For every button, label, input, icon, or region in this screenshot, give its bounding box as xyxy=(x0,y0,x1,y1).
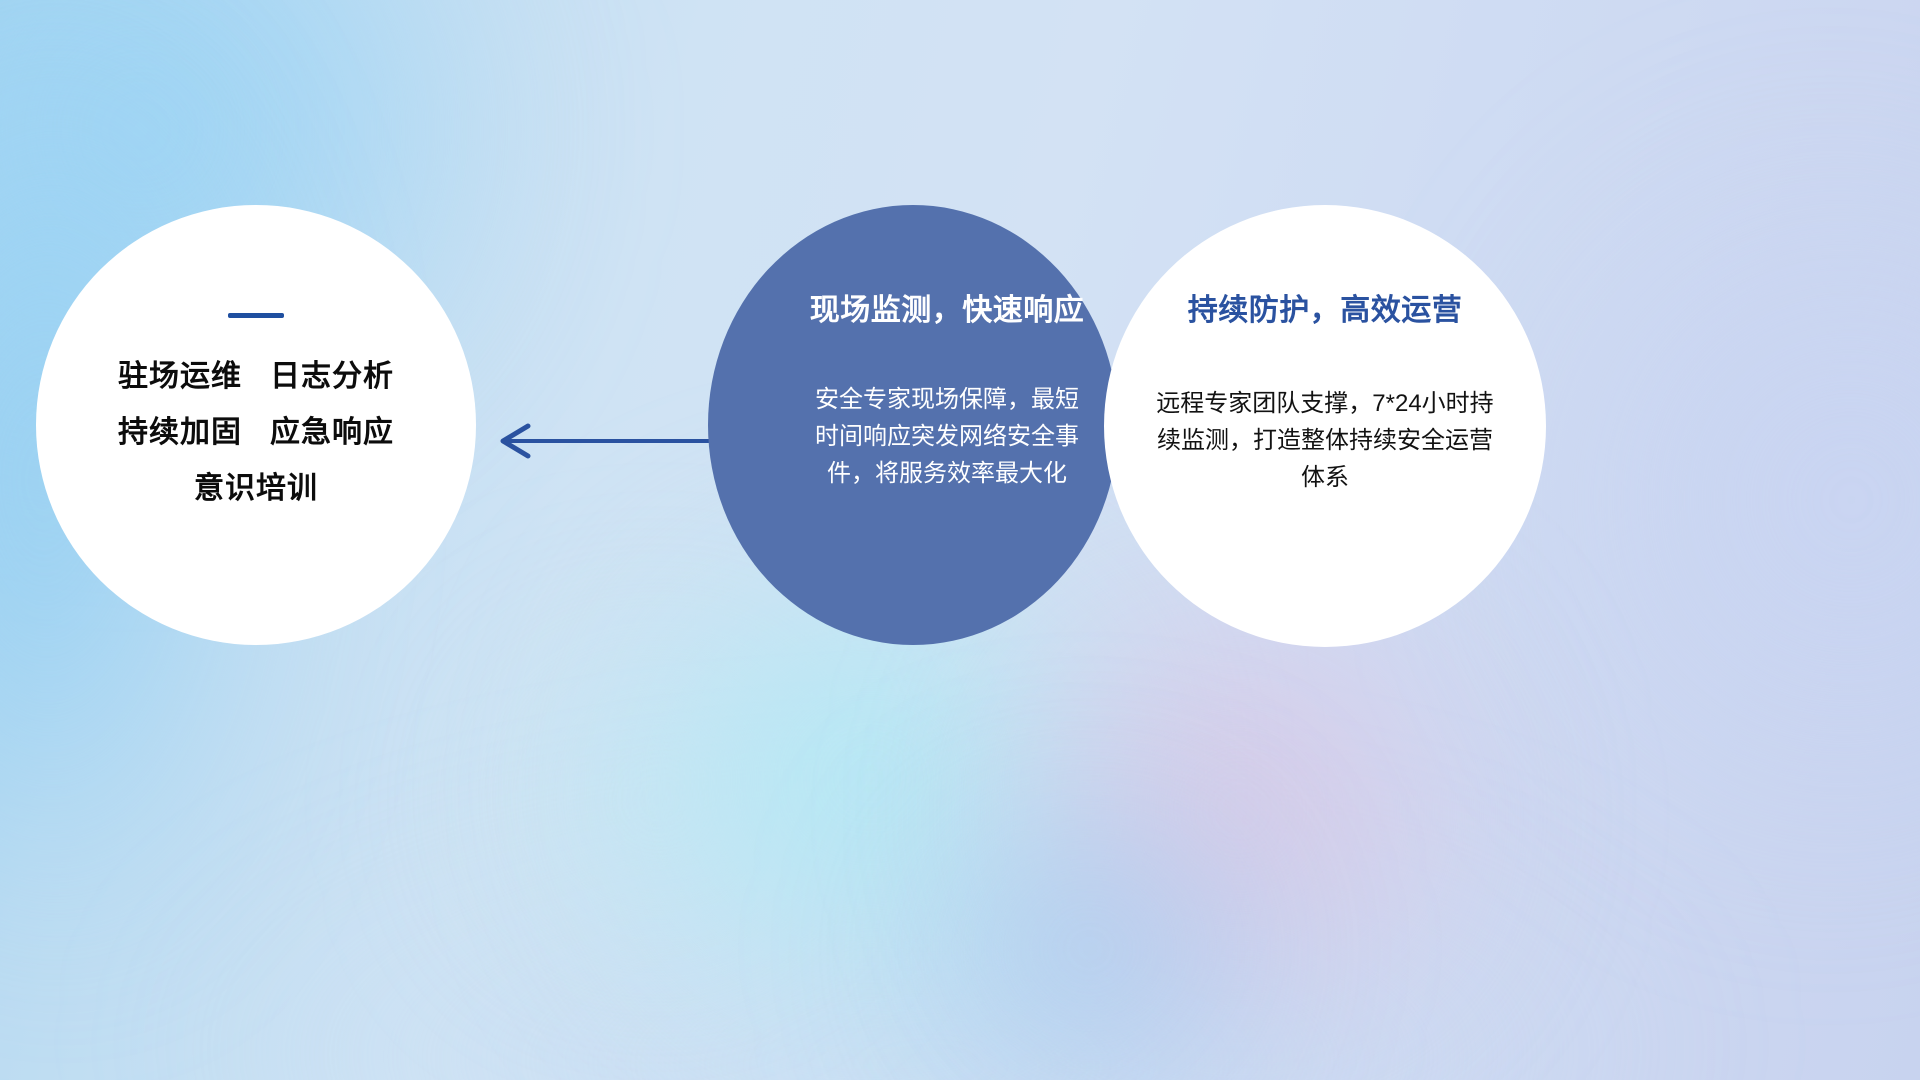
arrow-connector xyxy=(490,418,710,464)
slide-canvas: 驻场运维 日志分析 持续加固 应急响应 意识培训 现场监测，快速响应 安全专家现… xyxy=(0,0,1920,1080)
divider-dash xyxy=(228,313,284,318)
capability-list: 驻场运维 日志分析 持续加固 应急响应 意识培训 xyxy=(118,362,394,504)
node-onsite-monitoring-body: 安全专家现场保障，最短时间响应突发网络安全事件，将服务效率最大化 xyxy=(811,381,1083,493)
node-continuous-protection-body: 远程专家团队支撑，7*24小时持续监测，打造整体持续安全运营体系 xyxy=(1155,385,1495,497)
node-continuous-protection-title: 持续防护，高效运营 xyxy=(1188,293,1463,329)
node-continuous-protection[interactable]: 持续防护，高效运营 远程专家团队支撑，7*24小时持续监测，打造整体持续安全运营… xyxy=(1104,205,1546,647)
node-onsite-monitoring[interactable]: 现场监测，快速响应 安全专家现场保障，最短时间响应突发网络安全事件，将服务效率最… xyxy=(708,205,1118,645)
left-arrow-icon xyxy=(503,426,710,456)
capability-line-1: 驻场运维 日志分析 xyxy=(118,362,394,392)
node-onsite-monitoring-title: 现场监测，快速响应 xyxy=(810,293,1085,329)
node-capabilities[interactable]: 驻场运维 日志分析 持续加固 应急响应 意识培训 xyxy=(36,205,476,645)
capability-line-3: 意识培训 xyxy=(194,474,318,504)
capability-line-2: 持续加固 应急响应 xyxy=(118,418,394,448)
